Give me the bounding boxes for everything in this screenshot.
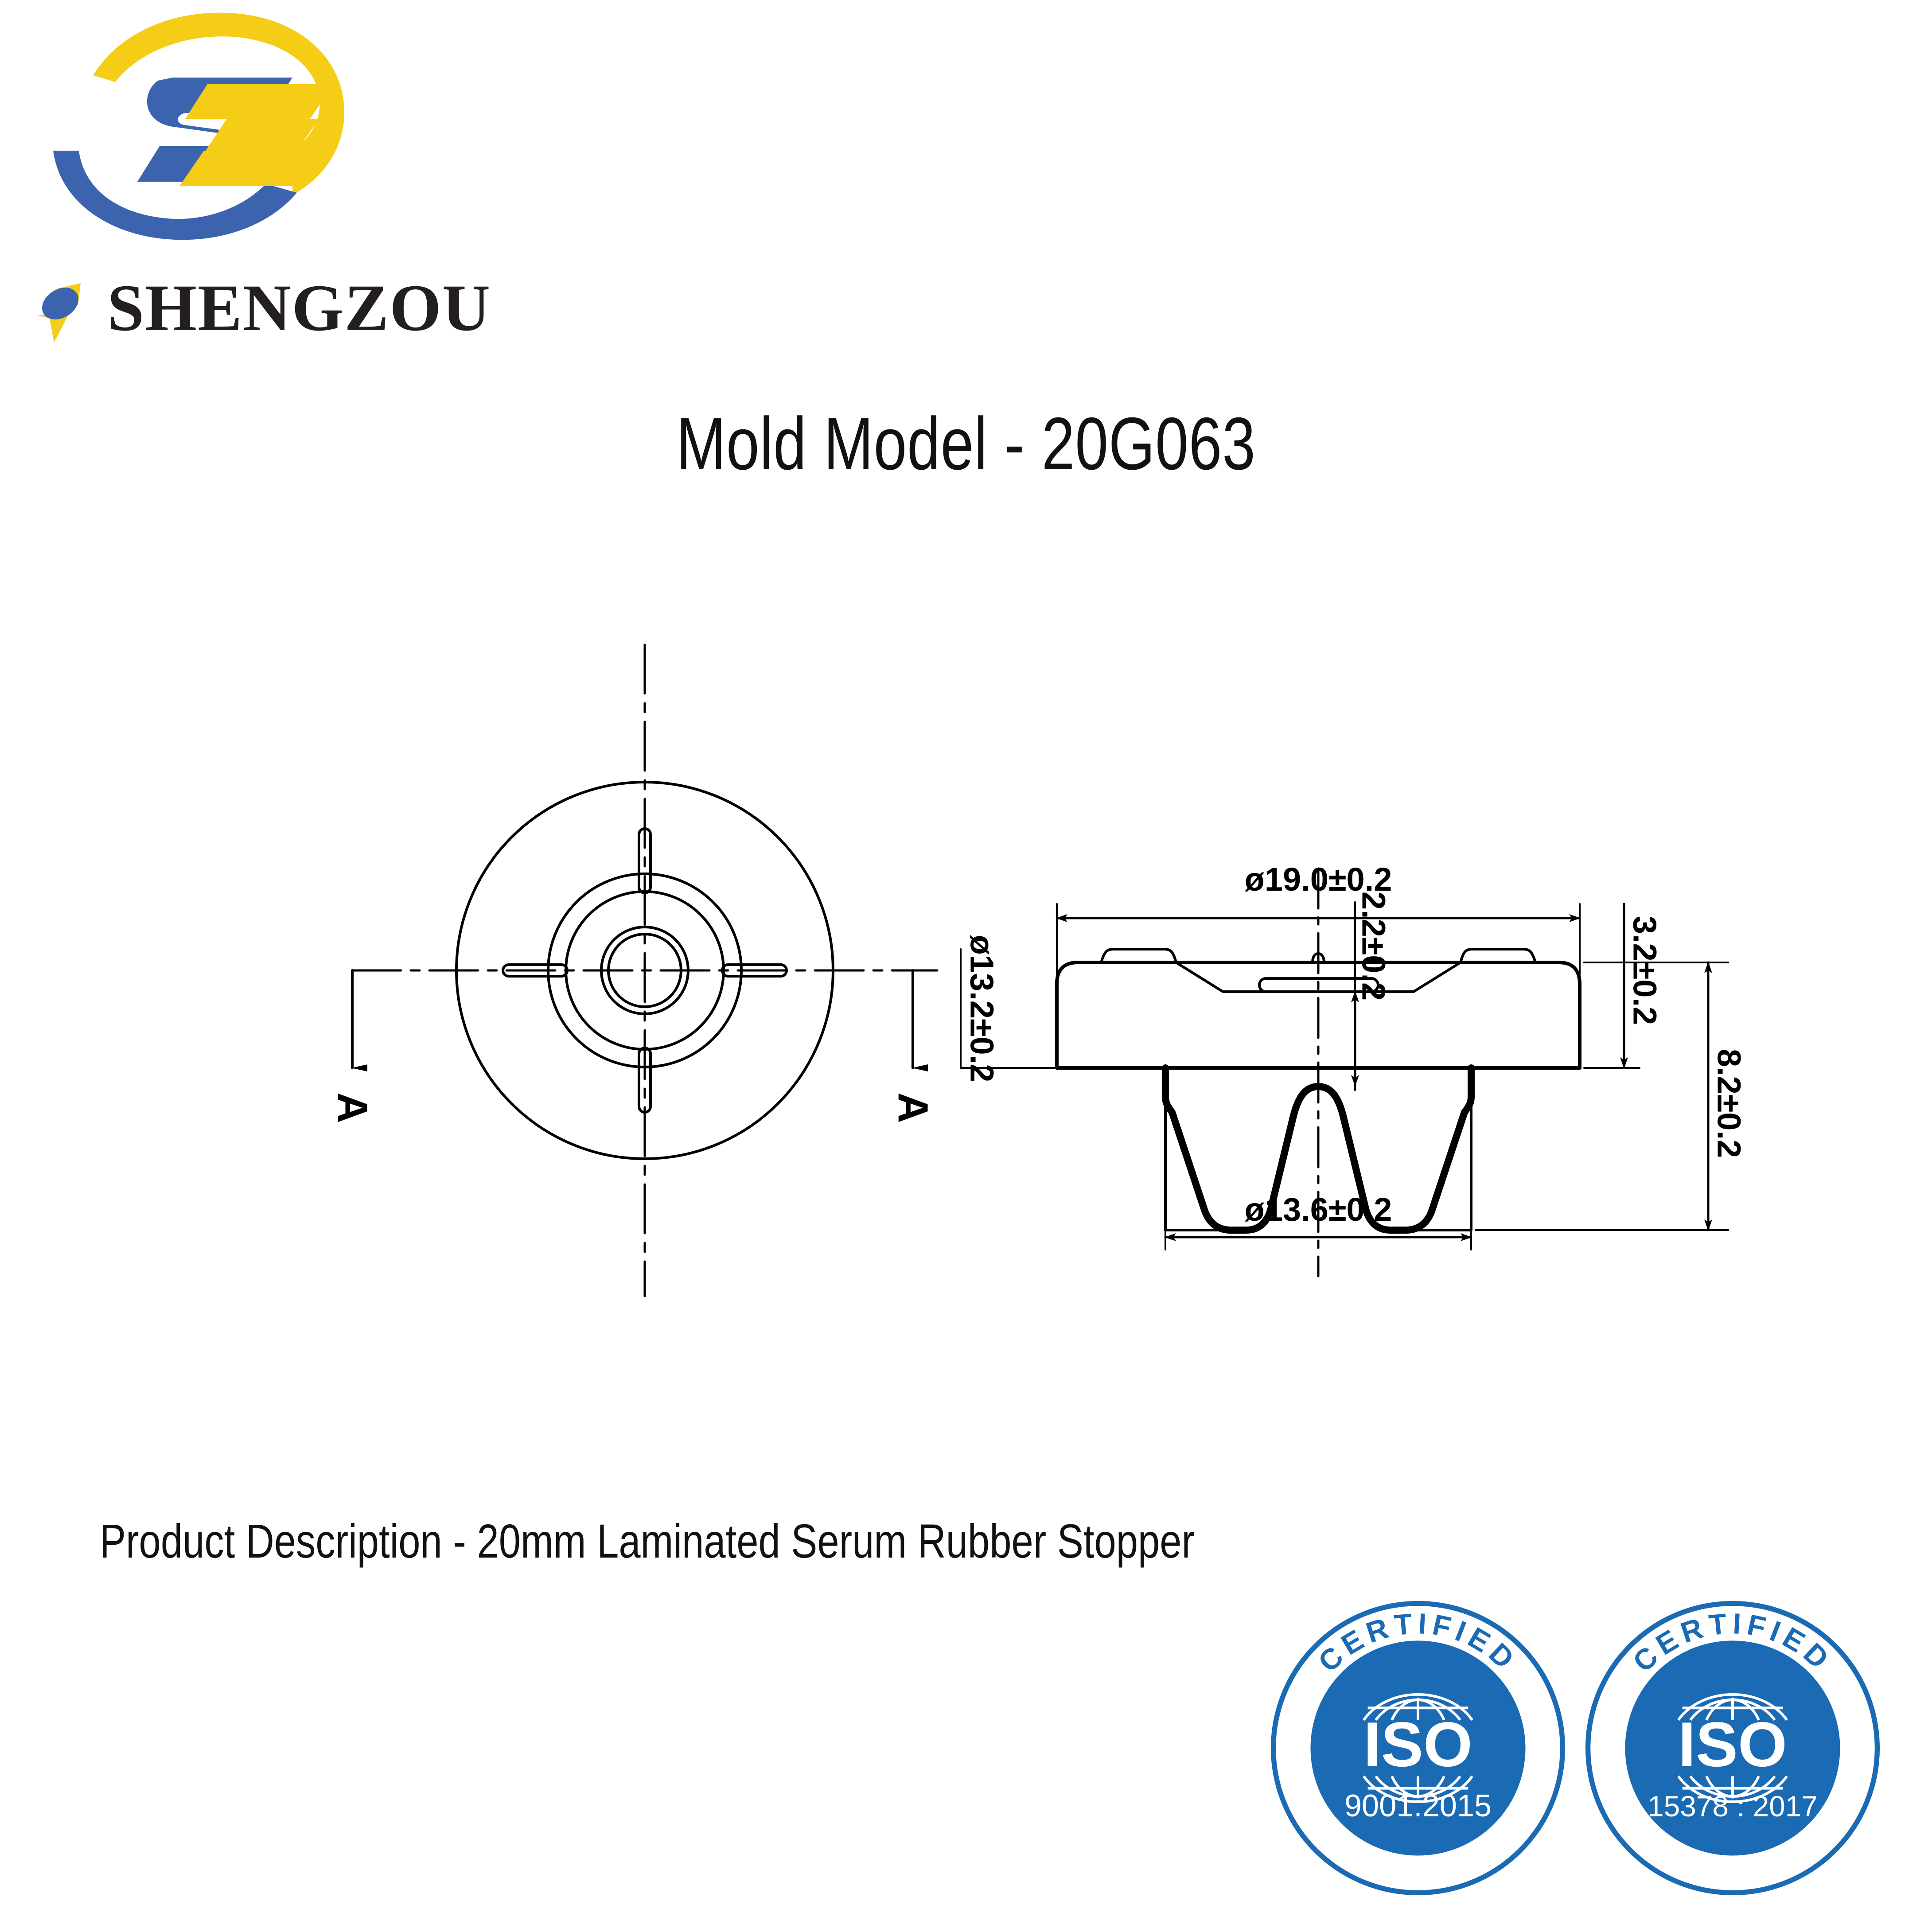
- top-view: [352, 645, 937, 1296]
- iso-9001-standard: 9001:2015: [1344, 1788, 1492, 1823]
- iso-15378-badge: CERTIFIED COMPANY ISO: [1582, 1595, 1883, 1901]
- dimension-overall-height: 8.2±0.2: [1476, 962, 1748, 1230]
- sz-monogram-icon: [27, 4, 363, 270]
- section-label-right-a: A: [889, 1092, 937, 1123]
- iso-15378-standard: 15378 : 2017: [1648, 1790, 1818, 1823]
- svg-text:A: A: [889, 1092, 937, 1123]
- section-label-left-a: A: [329, 1092, 376, 1123]
- brand-logo: SHENGZOU: [27, 4, 381, 354]
- brand-wordmark: SHENGZOU: [31, 266, 491, 350]
- bird-mark-icon: [31, 273, 97, 343]
- iso-9001-badge: CERTIFIED COMPANY ISO: [1267, 1595, 1569, 1901]
- technical-drawing: A A: [0, 620, 1932, 1312]
- iso-9001-mark: ISO: [1363, 1710, 1472, 1780]
- dimension-flange-diameter: ø13.2±0.2: [961, 935, 1161, 1083]
- svg-text:2.2±0.2: 2.2±0.2: [1356, 892, 1392, 1001]
- svg-text:ø13.6±0.2: ø13.6±0.2: [1245, 1191, 1392, 1228]
- iso-15378-mark: ISO: [1678, 1710, 1787, 1780]
- company-name: SHENGZOU: [107, 275, 491, 341]
- section-view-a-a: ø19.0±0.2 ø13.6±0.2 ø13.2±0.2: [961, 861, 1748, 1276]
- page-title: Mold Model - 20G063: [193, 401, 1739, 487]
- svg-text:ø13.2±0.2: ø13.2±0.2: [964, 935, 1001, 1083]
- svg-text:8.2±0.2: 8.2±0.2: [1711, 1049, 1748, 1158]
- svg-text:A: A: [329, 1092, 376, 1123]
- certification-badges: CERTIFIED COMPANY ISO: [1267, 1595, 1897, 1905]
- svg-text:3.2±0.2: 3.2±0.2: [1627, 916, 1663, 1025]
- dimension-flange-height: 3.2±0.2: [1584, 904, 1663, 1068]
- drawing-sheet: SHENGZOU Mold Model - 20G063: [0, 0, 1932, 1932]
- product-description: Product Description - 20mm Laminated Ser…: [100, 1513, 1195, 1569]
- dimension-center-thickness: 2.2±0.2: [1355, 892, 1392, 1090]
